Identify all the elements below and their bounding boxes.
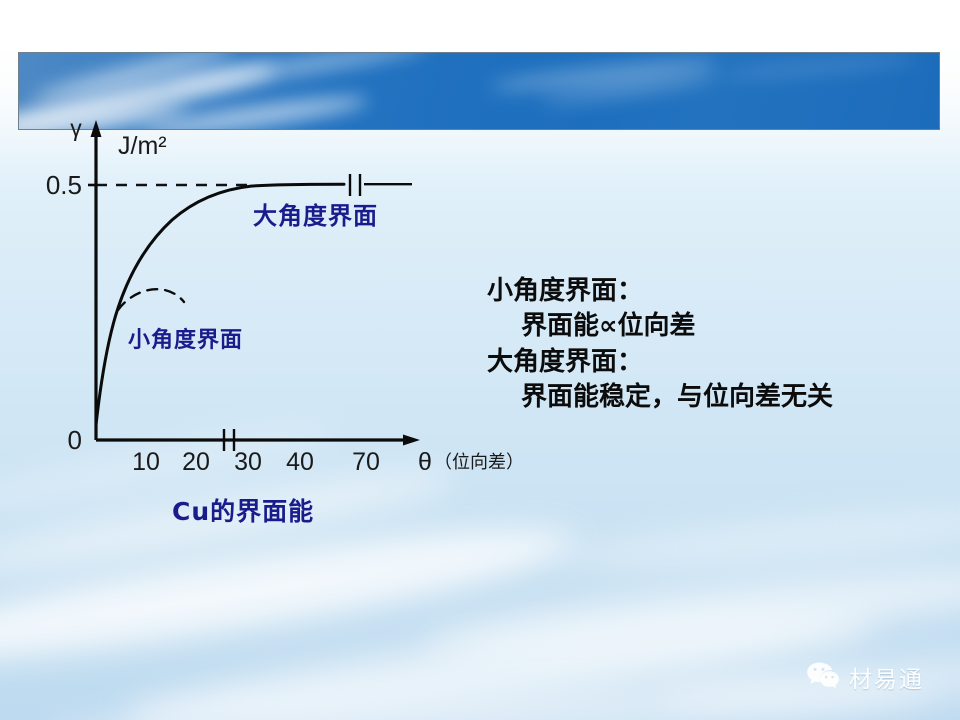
watermark-text: 材易通 — [849, 660, 924, 694]
banner-cloud-streak — [719, 52, 919, 81]
x-tick-label-30: 30 — [234, 448, 262, 476]
small-angle-boundary-label: 小角度界面 — [128, 322, 243, 354]
small-angle-arc-annotation — [118, 289, 184, 310]
x-axis-symbol: θ — [418, 448, 432, 476]
large-angle-boundary-label: 大角度界面 — [253, 196, 378, 231]
summary-line-2: 界面能∝位向差 — [487, 309, 947, 344]
summary-line-4: 界面能稳定，与位向差无关 — [487, 380, 947, 415]
y-axis-symbol: γ — [70, 115, 82, 141]
slide-canvas: γ J/m² 0.5 0 10 20 30 40 70 θ （位向差） 大角度界… — [0, 0, 960, 720]
y-axis-unit: J/m² — [118, 132, 167, 160]
summary-text-block: 小角度界面： 界面能∝位向差 大角度界面： 界面能稳定，与位向差无关 — [487, 274, 947, 415]
y-axis-arrowhead — [91, 120, 102, 137]
x-tick-label-40: 40 — [286, 448, 314, 476]
x-tick-label-70: 70 — [352, 448, 380, 476]
summary-line-3: 大角度界面： — [487, 345, 947, 380]
origin-label: 0 — [68, 425, 82, 455]
wechat-icon — [806, 661, 840, 694]
banner-cloud-streak — [489, 55, 719, 95]
x-axis-paren-label: （位向差） — [434, 452, 524, 472]
banner-cloud-streak — [539, 71, 719, 109]
banner-cloud-streak — [169, 52, 428, 94]
x-tick-label-10: 10 — [132, 448, 160, 476]
watermark: 材易通 — [806, 660, 924, 694]
x-tick-label-20: 20 — [182, 448, 210, 476]
x-axis-arrowhead — [403, 435, 420, 446]
banner-cloud-streak — [30, 52, 238, 107]
y-tick-label-0.5: 0.5 — [46, 170, 82, 200]
summary-line-1: 小角度界面： — [487, 274, 947, 309]
chart-caption: Cu的界面能 — [172, 492, 314, 528]
